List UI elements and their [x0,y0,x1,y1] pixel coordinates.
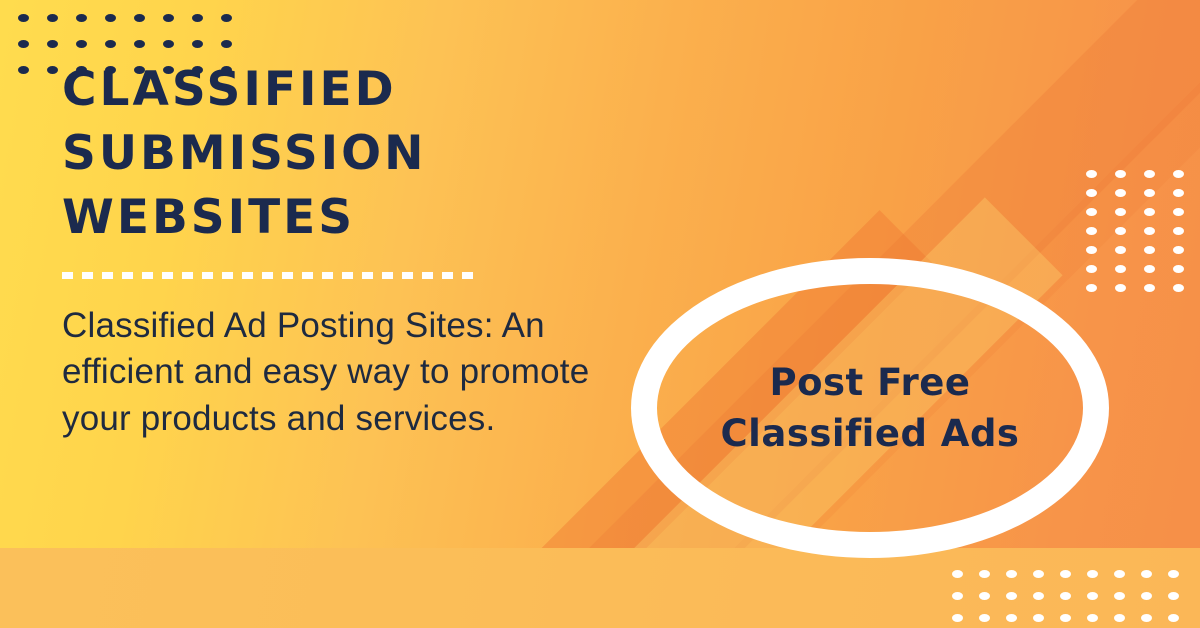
dot [1173,265,1184,273]
dot [1115,227,1126,235]
dot [1087,570,1098,578]
dot [1086,265,1097,273]
dot [1144,265,1155,273]
dot [1173,170,1184,178]
dot [1173,246,1184,254]
dot-grid-right-icon [1086,170,1200,303]
dot [1115,265,1126,273]
dot [192,40,203,48]
dot [1144,189,1155,197]
page-title: CLASSIFIED SUBMISSION WEBSITES [62,58,622,250]
dot [952,570,963,578]
dot [1114,570,1125,578]
dot [1141,614,1152,622]
dot [1144,284,1155,292]
dashed-divider [62,272,480,279]
dot [134,14,145,22]
dot [76,14,87,22]
dot [1144,246,1155,254]
circle-badge: Post Free Classified Ads [631,258,1109,558]
dot [221,14,232,22]
dot [1033,592,1044,600]
dot [1086,227,1097,235]
dot [1087,592,1098,600]
dot [1006,592,1017,600]
dot [1086,284,1097,292]
dot [18,40,29,48]
dot [105,14,116,22]
dot [1006,614,1017,622]
promo-banner: CLASSIFIED SUBMISSION WEBSITES Classifie… [0,0,1200,628]
dot [1144,208,1155,216]
dot [47,40,58,48]
dot [1141,570,1152,578]
dot [1115,170,1126,178]
dot [1033,570,1044,578]
dot [1060,570,1071,578]
dot [1087,614,1098,622]
dot [18,66,29,74]
dot [1115,208,1126,216]
dot [1144,170,1155,178]
dot [1168,570,1179,578]
text-column: CLASSIFIED SUBMISSION WEBSITES Classifie… [62,58,622,442]
dot [1144,227,1155,235]
dot [1114,592,1125,600]
dot [163,40,174,48]
circle-badge-label: Post Free Classified Ads [721,357,1020,459]
dot [221,40,232,48]
dot [1168,592,1179,600]
dot [1115,246,1126,254]
dot [47,66,58,74]
dot [1006,570,1017,578]
dot [1173,189,1184,197]
dot [1173,227,1184,235]
dot [1086,189,1097,197]
dot [952,614,963,622]
dot [18,14,29,22]
dot [1086,208,1097,216]
dot [1033,614,1044,622]
dot [163,14,174,22]
dot [105,40,116,48]
dot [1086,246,1097,254]
dot [1114,614,1125,622]
dot [1115,284,1126,292]
dot-grid-bottom-right-icon [952,570,1195,628]
dot [979,592,990,600]
dot [1168,614,1179,622]
dot [192,14,203,22]
dot [979,570,990,578]
dot [1060,592,1071,600]
dot [1173,284,1184,292]
dot [1115,189,1126,197]
dot [134,40,145,48]
dot [1060,614,1071,622]
dot [979,614,990,622]
dot [76,40,87,48]
dot [1173,208,1184,216]
dot [952,592,963,600]
subtitle-description: Classified Ad Posting Sites: An efficien… [62,303,610,443]
dot [1086,170,1097,178]
dot [1141,592,1152,600]
dot [47,14,58,22]
